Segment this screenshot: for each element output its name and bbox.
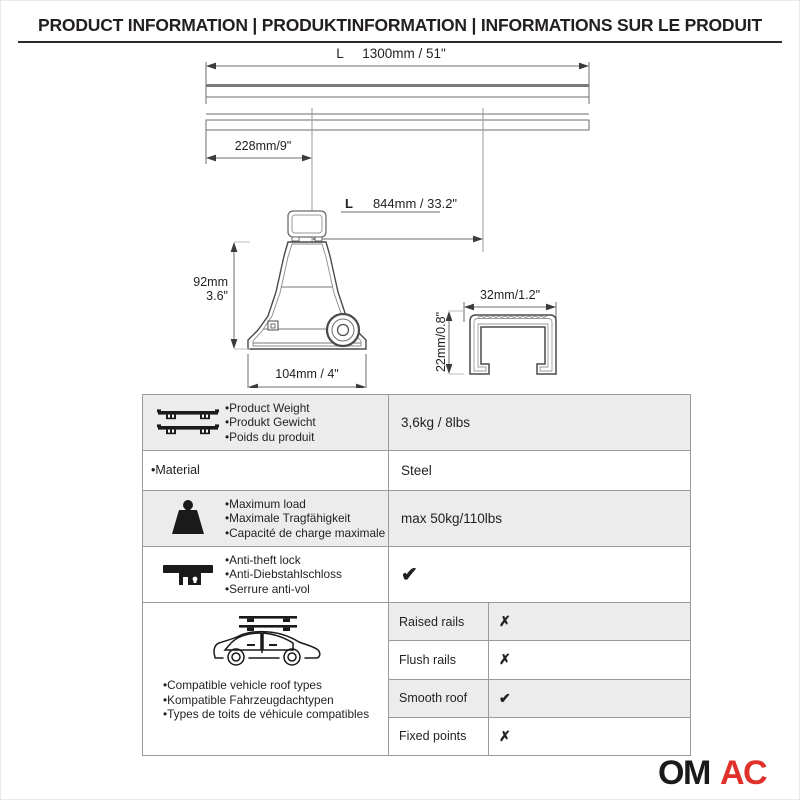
roof-type-row-raised-rails: Raised rails ✗ — [389, 603, 690, 641]
page-title: PRODUCT INFORMATION | PRODUKTINFORMATION… — [38, 15, 762, 36]
svg-text:844mm / 33.2": 844mm / 33.2" — [373, 196, 457, 211]
label-line-fr: •Poids du produit — [225, 430, 382, 444]
check-mark-icon: ✔ — [401, 565, 418, 585]
crossbars-icon — [151, 406, 225, 440]
row-label-anti-theft-lock: •Anti-theft lock •Anti-Diebstahlschloss … — [143, 547, 389, 602]
row-value-maximum-load: max 50kg/110lbs — [389, 491, 690, 546]
label-line-de: •Maximale Tragfähigkeit — [225, 511, 385, 525]
row-label-text-maximum-load: •Maximum load •Maximale Tragfähigkeit •C… — [225, 497, 385, 540]
car-with-rack-icon — [205, 609, 327, 676]
label-line-material: •Material — [151, 463, 382, 478]
technical-drawing: L 1300mm / 51" 228mm/9" L 844mm / 33.2" … — [0, 44, 800, 388]
row-label-text-material: •Material — [151, 463, 382, 478]
roof-type-mark: ✔ — [489, 690, 690, 707]
svg-text:AC: AC — [720, 756, 767, 790]
row-label-material: •Material — [143, 451, 389, 490]
roof-compat-label-text: •Compatible vehicle roof types •Kompatib… — [149, 678, 382, 722]
svg-text:92mm: 92mm — [193, 275, 228, 289]
svg-text:OM: OM — [658, 756, 710, 790]
weight-icon — [151, 499, 225, 539]
roof-compat-label: •Compatible vehicle roof types •Kompatib… — [143, 603, 389, 755]
label-line-fr: •Serrure anti-vol — [225, 582, 382, 596]
header-divider — [18, 41, 782, 43]
label-line-en: •Compatible vehicle roof types — [163, 678, 382, 693]
roof-type-mark: ✗ — [489, 651, 690, 668]
specifications-table: •Product Weight •Produkt Gewicht •Poids … — [142, 394, 691, 756]
label-line-en: •Anti-theft lock — [225, 553, 382, 567]
svg-text:104mm / 4": 104mm / 4" — [275, 367, 339, 381]
roof-type-name: Raised rails — [389, 603, 489, 640]
lock-icon — [151, 559, 225, 591]
table-row-material: •Material Steel — [143, 451, 690, 491]
svg-text:228mm/9": 228mm/9" — [235, 139, 292, 153]
label-line-de: •Anti-Diebstahlschloss — [225, 567, 382, 581]
row-value-product-weight: 3,6kg / 8lbs — [389, 395, 690, 450]
row-label-maximum-load: •Maximum load •Maximale Tragfähigkeit •C… — [143, 491, 389, 546]
svg-text:L: L — [345, 196, 353, 211]
svg-text:32mm/1.2": 32mm/1.2" — [480, 288, 540, 302]
roof-type-mark: ✗ — [489, 728, 690, 745]
svg-text:22mm/0.8": 22mm/0.8" — [434, 312, 448, 372]
roof-type-name: Flush rails — [389, 641, 489, 678]
label-line-de: •Kompatible Fahrzeugdachtypen — [163, 693, 382, 708]
table-row-product-weight: •Product Weight •Produkt Gewicht •Poids … — [143, 395, 690, 451]
table-row-anti-theft-lock: •Anti-theft lock •Anti-Diebstahlschloss … — [143, 547, 690, 603]
row-label-product-weight: •Product Weight •Produkt Gewicht •Poids … — [143, 395, 389, 450]
label-line-fr: •Types de toits de véhicule compatibles — [163, 707, 382, 722]
roof-type-name: Smooth roof — [389, 680, 489, 717]
svg-text:1300mm / 51": 1300mm / 51" — [362, 46, 446, 61]
row-label-text-product-weight: •Product Weight •Produkt Gewicht •Poids … — [225, 401, 382, 444]
label-line-fr: •Capacité de charge maximale — [225, 526, 385, 540]
table-row-maximum-load: •Maximum load •Maximale Tragfähigkeit •C… — [143, 491, 690, 547]
roof-types-subtable: Raised rails ✗ Flush rails ✗ Smooth roof… — [389, 603, 690, 755]
roof-type-mark: ✗ — [489, 613, 690, 630]
row-value-material: Steel — [389, 451, 690, 490]
svg-text:L: L — [336, 46, 344, 61]
roof-type-row-smooth-roof: Smooth roof ✔ — [389, 680, 690, 718]
omac-logo: OM AC — [658, 756, 790, 790]
label-line-de: •Produkt Gewicht — [225, 415, 382, 429]
roof-type-row-fixed-points: Fixed points ✗ — [389, 718, 690, 755]
svg-text:3.6": 3.6" — [206, 289, 228, 303]
table-row-roof-compatibility: •Compatible vehicle roof types •Kompatib… — [143, 603, 690, 755]
roof-type-row-flush-rails: Flush rails ✗ — [389, 641, 690, 679]
label-line-en: •Product Weight — [225, 401, 382, 415]
label-line-en: •Maximum load — [225, 497, 385, 511]
roof-type-name: Fixed points — [389, 718, 489, 755]
row-value-anti-theft-lock: ✔ — [389, 547, 690, 602]
row-label-text-anti-theft-lock: •Anti-theft lock •Anti-Diebstahlschloss … — [225, 553, 382, 596]
page-header: PRODUCT INFORMATION | PRODUKTINFORMATION… — [0, 8, 800, 42]
